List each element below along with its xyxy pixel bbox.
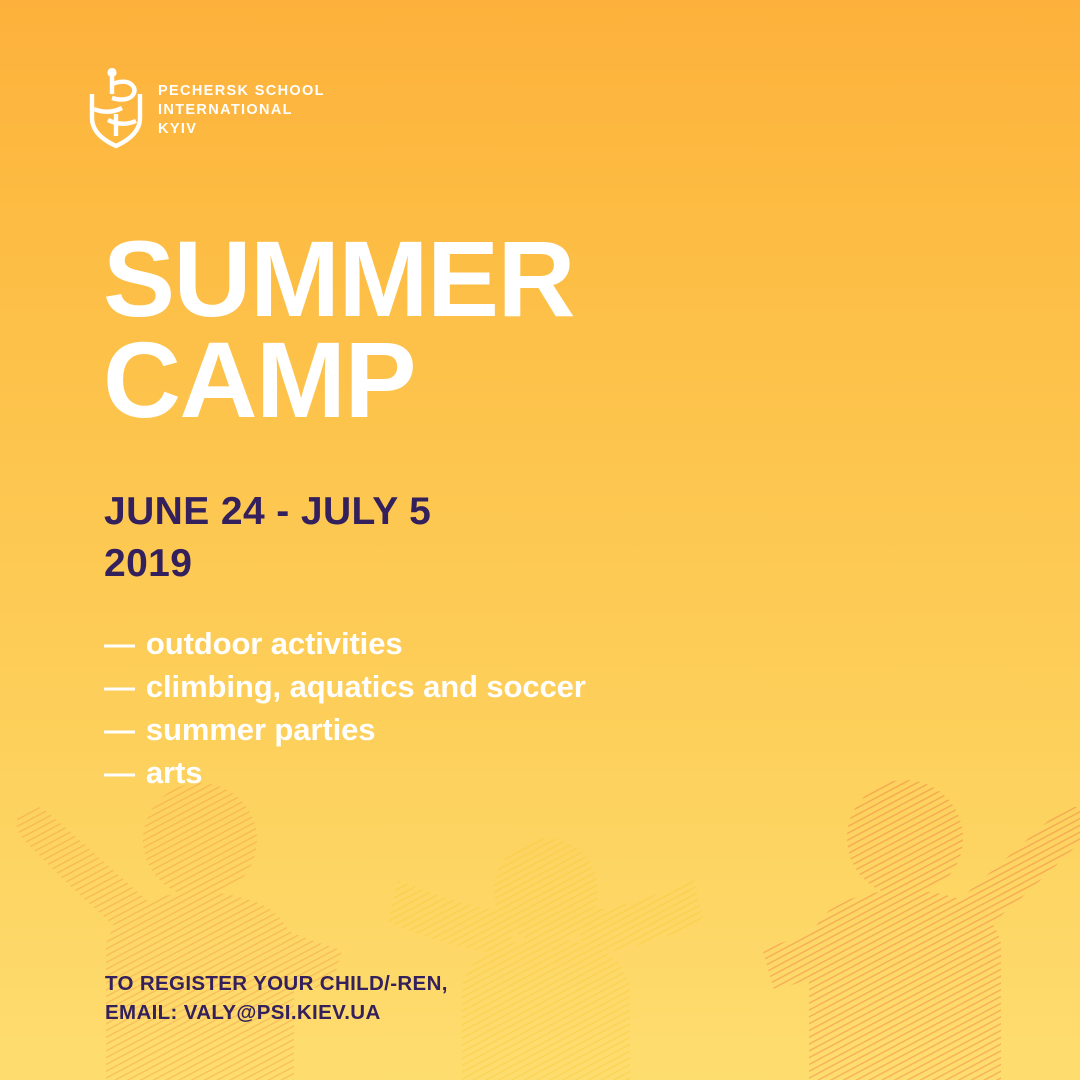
registration-cta: TO REGISTER YOUR CHILD/-REN, EMAIL: VALY… (105, 969, 448, 1027)
list-item: —arts (104, 751, 586, 794)
page-title: SUMMER CAMP (103, 228, 574, 430)
figure-right (762, 780, 1080, 1080)
headline-line-1: SUMMER (103, 228, 574, 329)
figure-left (16, 783, 342, 1080)
three-cheering-children-illustration (0, 760, 1080, 1080)
school-logo-text: PECHERSK SCHOOL INTERNATIONAL KYIV (158, 68, 325, 139)
psi-shield-logo-icon (88, 68, 144, 150)
list-item-label: arts (146, 755, 202, 790)
logo-line-1: PECHERSK SCHOOL (158, 83, 325, 99)
school-logo: PECHERSK SCHOOL INTERNATIONAL KYIV (88, 68, 325, 150)
camp-dates: JUNE 24 - JULY 5 2019 (104, 486, 431, 590)
camp-dates-range: JUNE 24 - JULY 5 (104, 486, 431, 538)
cta-line-1: TO REGISTER YOUR CHILD/-REN, (105, 969, 448, 998)
list-dash-icon: — (104, 665, 135, 708)
camp-dates-year: 2019 (104, 538, 431, 590)
figure-middle (388, 838, 704, 1080)
list-dash-icon: — (104, 708, 135, 751)
list-dash-icon: — (104, 751, 135, 794)
list-item: —summer parties (104, 708, 586, 751)
list-item-label: climbing, aquatics and soccer (146, 669, 586, 704)
logo-line-3: KYIV (158, 121, 197, 137)
logo-line-2: INTERNATIONAL (158, 102, 293, 118)
list-item: —climbing, aquatics and soccer (104, 665, 586, 708)
list-item-label: outdoor activities (146, 626, 403, 661)
list-item: —outdoor activities (104, 622, 586, 665)
list-item-label: summer parties (146, 712, 375, 747)
activities-list: —outdoor activities —climbing, aquatics … (104, 622, 586, 794)
summer-camp-poster: PECHERSK SCHOOL INTERNATIONAL KYIV SUMME… (0, 0, 1080, 1080)
cta-line-2: EMAIL: VALY@PSI.KIEV.UA (105, 998, 448, 1027)
list-dash-icon: — (104, 622, 135, 665)
headline-line-2: CAMP (103, 329, 574, 430)
